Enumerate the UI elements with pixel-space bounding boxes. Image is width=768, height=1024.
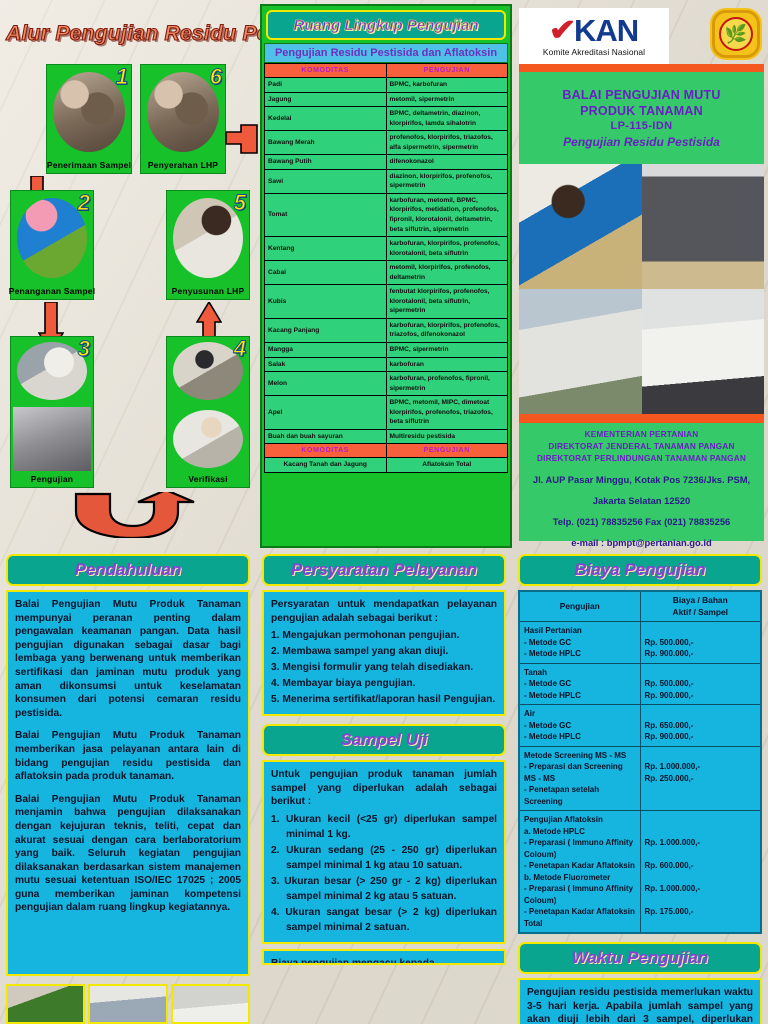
- strip-photo-lab-worker: [88, 984, 167, 1024]
- biaya-table: Pengujian Biaya / Bahan Aktif / Sampel H…: [518, 590, 762, 934]
- kan-logo: ✔ KAN Komite Akreditasi Nasional: [519, 8, 669, 64]
- flow-step-4-number: 4: [234, 337, 246, 361]
- flow-step-2-photo: 2: [11, 191, 93, 285]
- scope-analytes: metomil, klorpirifos, profenofos, deltam…: [386, 261, 508, 285]
- scope-commodity: Sawi: [265, 169, 387, 193]
- scope-commodity: Melon: [265, 372, 387, 396]
- kan-wordmark: KAN: [574, 16, 638, 46]
- scope-analytes: fenbutat klorpirifos, profenofos, klorot…: [386, 285, 508, 319]
- flow-step-3: 3 Pengujian: [10, 336, 94, 488]
- identity-subtitle: Pengujian Residu Pestisida: [563, 135, 720, 149]
- table-row: Sawidiazinon, klorpirifos, profenofos, s…: [265, 169, 508, 193]
- list-item: Menerima sertifikat/laporan hasil Penguj…: [271, 692, 497, 707]
- waktu-text: Pengujian residu pestisida memerlukan wa…: [527, 986, 753, 1024]
- scope-analytes: diazinon, klorpirifos, profenofos, siper…: [386, 169, 508, 193]
- biaya-title: Biaya Pengujian: [574, 560, 705, 580]
- flow-step-5-caption: Penyusunan LHP: [170, 285, 247, 297]
- strip-photo-lab-room: [171, 984, 250, 1024]
- scope2-analytes: Aflatoksin Total: [386, 458, 508, 473]
- scope-commodity: Apel: [265, 396, 387, 430]
- scope2-col-pengujian: PENGUJIAN: [386, 444, 508, 458]
- pendahuluan-header: Pendahuluan: [6, 554, 250, 586]
- biaya-item-price: Rp. 1.000.000,- Rp. 600.000,- Rp. 1.000.…: [640, 811, 761, 934]
- strip-photo-vegetables: [6, 984, 85, 1024]
- flow-title: Alur Pengujian Residu Pestisida: [6, 18, 252, 52]
- flow-step-6: 6 Penyerahan LHP: [140, 64, 226, 174]
- scope-commodity: Kubis: [265, 285, 387, 319]
- pendahuluan-section: Pendahuluan Balai Pengujian Mutu Produk …: [0, 550, 256, 1024]
- flow-step-3-caption: Pengujian: [29, 473, 75, 485]
- list-item: Ukuran sedang (25 - 250 gr) diperlukan s…: [271, 843, 497, 873]
- pendahuluan-p1: Balai Pengujian Mutu Produk Tanaman memp…: [15, 598, 241, 720]
- table-row: Kacang Tanah dan JagungAflatoksin Total: [265, 458, 508, 473]
- lab-photo-hplc-system: [642, 289, 765, 414]
- ministry-seal-icon: 🌿: [712, 10, 760, 58]
- table-row: Melonkarbofuran, profenofos, fipronil, s…: [265, 372, 508, 396]
- lab-photo-instrument-rack: [642, 164, 765, 289]
- scope-analytes: BPMC, metomil, MIPC, dimetoat klorpirifo…: [386, 396, 508, 430]
- table-row: ManggaBPMC, sipermetrin: [265, 343, 508, 358]
- address-email: e-mail : bpmpt@pertanian.go.id: [523, 536, 760, 549]
- table-row: Jagungmetomil, sipermetrin: [265, 92, 508, 107]
- identity-orange-bar-2: [519, 414, 764, 423]
- scope-analytes: karbofuran: [386, 357, 508, 372]
- ministry-line-3: DIREKTORAT PERLINDUNGAN TANAMAN PANGAN: [523, 453, 760, 465]
- pendahuluan-title: Pendahuluan: [75, 560, 182, 580]
- identity-panel: ✔ KAN Komite Akreditasi Nasional 🌿 BALAI…: [513, 4, 768, 548]
- table-row: Bawang Merahprofenofos, klorpirifos, tri…: [265, 131, 508, 155]
- list-item: Ukuran kecil (<25 gr) diperlukan sampel …: [271, 812, 497, 842]
- table-row: KedelaiBPMC, deltametrin, diazinon, klor…: [265, 107, 508, 131]
- biaya-item-price: Rp. 650.000,- Rp. 900.000,-: [640, 705, 761, 747]
- identity-orange-bar: [519, 64, 764, 72]
- persyaratan-body: Persyaratan untuk mendapatkan pelayanan …: [262, 590, 506, 716]
- flow-step-4: 4 Verifikasi: [166, 336, 250, 488]
- address-line-1: Jl. AUP Pasar Minggu, Kotak Pos 7236/Jks…: [523, 473, 760, 486]
- biaya-item-label: Metode Screening MS - MS - Preparasi dan…: [519, 746, 640, 811]
- identity-title-line2: PRODUK TANAMAN: [580, 104, 703, 119]
- table-row: Kentangkarbofuran, klorpirifos, profenof…: [265, 237, 508, 261]
- scope-commodity: Bawang Merah: [265, 131, 387, 155]
- bottom-photo-strip: [6, 984, 250, 1024]
- biaya-item-price: Rp. 1.000.000,- Rp. 250.000,-: [640, 746, 761, 811]
- flow-panel: Alur Pengujian Residu Pestisida 1 Peneri…: [0, 0, 258, 548]
- list-item: Membawa sampel yang akan diuji.: [271, 644, 497, 659]
- biaya-header-row: Pengujian Biaya / Bahan Aktif / Sampel: [519, 591, 761, 622]
- list-item: Ukuran sangat besar (> 2 kg) diperlukan …: [271, 905, 497, 935]
- list-item: Mengajukan permohonan pengujian.: [271, 628, 497, 643]
- scope-commodity: Jagung: [265, 92, 387, 107]
- sampel-cut-text: Biaya pengujian mengacu kepada: [271, 957, 497, 965]
- kan-check-icon: ✔: [549, 17, 577, 45]
- biaya-item-price: Rp. 500.000,- Rp. 900.000,-: [640, 622, 761, 664]
- scope-analytes: karbofuran, klorpirifos, profenofos, tri…: [386, 318, 508, 342]
- identity-lab-code: LP-115-IDN: [610, 120, 672, 132]
- table-row: ApelBPMC, metomil, MIPC, dimetoat klorpi…: [265, 396, 508, 430]
- sampel-cut-body: Biaya pengujian mengacu kepada: [262, 949, 506, 965]
- ministry-line-1: KEMENTERIAN PERTANIAN: [523, 429, 760, 441]
- sampel-list: Ukuran kecil (<25 gr) diperlukan sampel …: [271, 812, 497, 935]
- scope-analytes: karbofuran, klorpirifos, profenofos, klo…: [386, 237, 508, 261]
- biaya-item-label: Pengujian Aflatoksin a. Metode HPLC - Pr…: [519, 811, 640, 934]
- table-row: Kubisfenbutat klorpirifos, profenofos, k…: [265, 285, 508, 319]
- scope-analytes: karbofuran, profenofos, fipronil, siperm…: [386, 372, 508, 396]
- sampel-header: Sampel Uji: [262, 724, 506, 756]
- scope-table: KOMODITAS PENGUJIAN PadiBPMC, karbofuran…: [264, 63, 508, 473]
- scope-subtitle: Pengujian Residu Pestisida dan Aflatoksi…: [264, 43, 508, 63]
- ministry-line-2: DIREKTORAT JENDERAL TANAMAN PANGAN: [523, 441, 760, 453]
- identity-footer: KEMENTERIAN PERTANIAN DIREKTORAT JENDERA…: [519, 423, 764, 541]
- table-row: Salakkarbofuran: [265, 357, 508, 372]
- flow-step-2-number: 2: [78, 191, 90, 215]
- scope-analytes: profenofos, klorpirifos, triazofos, alfa…: [386, 131, 508, 155]
- biaya-item-label: Hasil Pertanian - Metode GC - Metode HPL…: [519, 622, 640, 664]
- identity-title-line1: BALAI PENGUJIAN MUTU: [562, 88, 720, 103]
- table-row: Air - Metode GC - Metode HPLC Rp. 650.00…: [519, 705, 761, 747]
- flow-step-4-caption: Verifikasi: [186, 473, 229, 485]
- scope-commodity: Tomat: [265, 193, 387, 236]
- persyaratan-sampel-section: Persyaratan Pelayanan Persyaratan untuk …: [256, 550, 512, 1024]
- flow-step-3-photo-2: [11, 405, 93, 473]
- scope2-col-komoditas: KOMODITAS: [265, 444, 387, 458]
- scope-panel: Ruang Lingkup Pengujian Pengujian Residu…: [260, 4, 512, 548]
- waktu-title: Waktu Pengujian: [572, 948, 709, 968]
- sampel-title: Sampel Uji: [341, 730, 428, 750]
- flow-step-5-photo: 5: [167, 191, 249, 285]
- scope-commodity: Kacang Panjang: [265, 318, 387, 342]
- table-row: Bawang Putihdifenokonazol: [265, 155, 508, 170]
- lab-photo-sample-prep: [519, 164, 642, 289]
- flow-step-1-number: 1: [116, 65, 128, 89]
- biaya-item-price: Rp. 500.000,- Rp. 900.000,-: [640, 663, 761, 705]
- biaya-header: Biaya Pengujian: [518, 554, 762, 586]
- flow-step-2-caption: Penanganan Sampel: [7, 285, 98, 297]
- sampel-body: Untuk pengujian produk tanaman jumlah sa…: [262, 760, 506, 944]
- scope-analytes: BPMC, karbofuran: [386, 78, 508, 93]
- sampel-intro: Untuk pengujian produk tanaman jumlah sa…: [271, 768, 497, 809]
- scope-commodity: Mangga: [265, 343, 387, 358]
- table-row: Tanah - Metode GC - Metode HPLC Rp. 500.…: [519, 663, 761, 705]
- table-row: Tomatkarbofuran, metomil, BPMC, klorpiri…: [265, 193, 508, 236]
- scope-analytes: metomil, sipermetrin: [386, 92, 508, 107]
- flow-step-1-photo: 1: [47, 65, 131, 159]
- biaya-col-harga: Biaya / Bahan Aktif / Sampel: [640, 591, 761, 622]
- scope-analytes: karbofuran, metomil, BPMC, klorpirifos, …: [386, 193, 508, 236]
- scope-commodity: Padi: [265, 78, 387, 93]
- scope-commodity: Bawang Putih: [265, 155, 387, 170]
- pendahuluan-body: Balai Pengujian Mutu Produk Tanaman memp…: [6, 590, 250, 976]
- table-row: Cabaimetomil, klorpirifos, profenofos, d…: [265, 261, 508, 285]
- flow-step-4-photo: 4: [167, 337, 249, 405]
- flow-step-4-photo-2: [167, 405, 249, 473]
- flow-step-6-photo: 6: [141, 65, 225, 159]
- list-item: Membayar biaya pengujian.: [271, 676, 497, 691]
- biaya-col-pengujian: Pengujian: [519, 591, 640, 622]
- scope-banner: Ruang Lingkup Pengujian: [266, 10, 506, 40]
- flow-step-1-caption: Penerimaan Sampel: [45, 159, 133, 171]
- scope-col-pengujian: PENGUJIAN: [386, 64, 508, 78]
- flow-step-5-number: 5: [234, 191, 246, 215]
- flow-step-1: 1 Penerimaan Sampel: [46, 64, 132, 174]
- scope-col-komoditas: KOMODITAS: [265, 64, 387, 78]
- scope-analytes: BPMC, deltametrin, diazinon, klorpirifos…: [386, 107, 508, 131]
- scope-header-row-2: KOMODITAS PENGUJIAN: [265, 444, 508, 458]
- lab-photo-gc-system: [519, 289, 642, 414]
- table-row: Kacang Panjangkarbofuran, klorpirifos, p…: [265, 318, 508, 342]
- scope-commodity: Cabai: [265, 261, 387, 285]
- arrow-uturn: [70, 492, 196, 538]
- scope-analytes: Multiresidu pestisida: [386, 429, 508, 444]
- biaya-item-label: Air - Metode GC - Metode HPLC: [519, 705, 640, 747]
- address-line-2: Jakarta Selatan 12520: [523, 494, 760, 507]
- scope-title: Ruang Lingkup Pengujian: [294, 17, 479, 34]
- table-row: PadiBPMC, karbofuran: [265, 78, 508, 93]
- scope-commodity: Salak: [265, 357, 387, 372]
- list-item: Ukuran besar (> 250 gr - 2 kg) diperluka…: [271, 874, 497, 904]
- arrow-left-into-6: [224, 122, 258, 156]
- table-row: Hasil Pertanian - Metode GC - Metode HPL…: [519, 622, 761, 664]
- biaya-waktu-section: Biaya Pengujian Pengujian Biaya / Bahan …: [512, 550, 768, 1024]
- scope-commodity: Kedelai: [265, 107, 387, 131]
- persyaratan-intro: Persyaratan untuk mendapatkan pelayanan …: [271, 598, 497, 625]
- scope-analytes: BPMC, sipermetrin: [386, 343, 508, 358]
- scope-analytes: difenokonazol: [386, 155, 508, 170]
- flow-step-3-photo: 3: [11, 337, 93, 405]
- poster-root: Alur Pengujian Residu Pestisida 1 Peneri…: [0, 0, 768, 1024]
- address-line-3: Telp. (021) 78835256 Fax (021) 78835256: [523, 515, 760, 528]
- scope-commodity: Kentang: [265, 237, 387, 261]
- flow-step-3-number: 3: [78, 337, 90, 361]
- scope-header-row: KOMODITAS PENGUJIAN: [265, 64, 508, 78]
- persyaratan-header: Persyaratan Pelayanan: [262, 554, 506, 586]
- table-row: Pengujian Aflatoksin a. Metode HPLC - Pr…: [519, 811, 761, 934]
- flow-step-6-caption: Penyerahan LHP: [146, 159, 220, 171]
- biaya-item-label: Tanah - Metode GC - Metode HPLC: [519, 663, 640, 705]
- flow-step-6-number: 6: [210, 65, 222, 89]
- pendahuluan-p2: Balai Pengujian Mutu Produk Tanaman memb…: [15, 729, 241, 783]
- waktu-header: Waktu Pengujian: [518, 942, 762, 974]
- scope2-commodity: Kacang Tanah dan Jagung: [265, 458, 387, 473]
- table-row: Buah dan buah sayuranMultiresidu pestisi…: [265, 429, 508, 444]
- flow-step-2: 2 Penanganan Sampel: [10, 190, 94, 300]
- kan-subtitle: Komite Akreditasi Nasional: [543, 47, 645, 57]
- flow-step-5: 5 Penyusunan LHP: [166, 190, 250, 300]
- list-item: Mengisi formulir yang telah disediakan.: [271, 660, 497, 675]
- persyaratan-title: Persyaratan Pelayanan: [291, 560, 477, 580]
- lab-photo-grid: [519, 164, 764, 414]
- persyaratan-list: Mengajukan permohonan pengujian.Membawa …: [271, 628, 497, 707]
- table-row: Metode Screening MS - MS - Preparasi dan…: [519, 746, 761, 811]
- scope-commodity: Buah dan buah sayuran: [265, 429, 387, 444]
- waktu-body: Pengujian residu pestisida memerlukan wa…: [518, 978, 762, 1024]
- pendahuluan-p3: Balai Pengujian Mutu Produk Tanaman menj…: [15, 793, 241, 915]
- identity-title-block: BALAI PENGUJIAN MUTU PRODUK TANAMAN LP-1…: [519, 72, 764, 164]
